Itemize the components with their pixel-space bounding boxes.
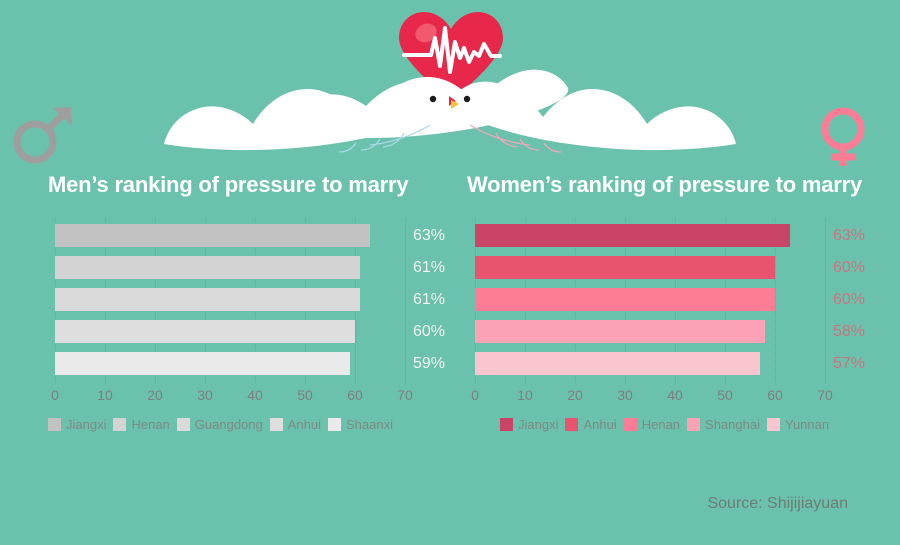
bar-jiangxi[interactable] — [55, 224, 370, 247]
legend-item-henan[interactable]: Henan — [624, 417, 680, 432]
x-tick-label-20: 20 — [567, 387, 583, 403]
bar-value-label: 59% — [413, 355, 445, 373]
bar-value-label: 60% — [833, 291, 865, 309]
x-tick-label-30: 30 — [197, 387, 213, 403]
page-title-women: Women’s ranking of pressure to marry — [455, 170, 885, 200]
bar-shaanxi[interactable] — [55, 352, 350, 375]
bar-value-label: 63% — [413, 227, 445, 245]
bar-anhui[interactable] — [475, 256, 775, 279]
legend-label: Yunnan — [785, 417, 829, 432]
legend-women: JiangxiAnhuiHenanShanghaiYunnan — [455, 417, 885, 432]
legend-swatch-icon — [48, 418, 61, 431]
love-birds-illustration — [0, 0, 900, 170]
bar-row[interactable]: 60% — [55, 320, 405, 343]
bar-row[interactable]: 61% — [55, 288, 405, 311]
x-axis-women: 010203040506070 — [475, 387, 825, 409]
x-tick-label-40: 40 — [247, 387, 263, 403]
legend-label: Jiangxi — [518, 417, 558, 432]
x-tick-label-40: 40 — [667, 387, 683, 403]
bar-shanghai[interactable] — [475, 320, 765, 343]
legend-swatch-icon — [565, 418, 578, 431]
x-axis-men: 010203040506070 — [55, 387, 405, 409]
x-tick-label-70: 70 — [817, 387, 833, 403]
x-tick-label-10: 10 — [517, 387, 533, 403]
bar-row[interactable]: 59% — [55, 352, 405, 375]
x-tick-label-0: 0 — [471, 387, 479, 403]
x-tick-label-0: 0 — [51, 387, 59, 403]
legend-label: Anhui — [583, 417, 616, 432]
plot-area-men: 63%61%61%60%59% — [55, 218, 405, 383]
legend-label: Henan — [642, 417, 680, 432]
legend-swatch-icon — [500, 418, 513, 431]
bar-value-label: 61% — [413, 259, 445, 277]
legend-item-anhui[interactable]: Anhui — [565, 417, 616, 432]
dove-left-icon — [164, 70, 568, 152]
bar-jiangxi[interactable] — [475, 224, 790, 247]
bar-value-label: 60% — [413, 323, 445, 341]
bar-value-label: 60% — [833, 259, 865, 277]
legend-item-guangdong[interactable]: Guangdong — [177, 417, 263, 432]
chart-panel-men: Men’s ranking of pressure to marry 63%61… — [30, 170, 460, 470]
legend-men: JiangxiHenanGuangdongAnhuiShaanxi — [30, 417, 460, 432]
bar-row[interactable]: 63% — [475, 224, 825, 247]
bar-value-label: 58% — [833, 323, 865, 341]
legend-swatch-icon — [270, 418, 283, 431]
gridline-70 — [405, 218, 406, 383]
chart-panel-women: Women’s ranking of pressure to marry 63%… — [455, 170, 885, 470]
bar-yunnan[interactable] — [475, 352, 760, 375]
dove-beaks-icon — [449, 96, 459, 109]
legend-item-anhui[interactable]: Anhui — [270, 417, 321, 432]
legend-item-shanghai[interactable]: Shanghai — [687, 417, 760, 432]
legend-label: Henan — [131, 417, 169, 432]
x-tick-label-20: 20 — [147, 387, 163, 403]
bar-list-men: 63%61%61%60%59% — [55, 218, 405, 383]
bar-list-women: 63%60%60%58%57% — [475, 218, 825, 383]
bar-row[interactable]: 60% — [475, 288, 825, 311]
bar-row[interactable]: 63% — [55, 224, 405, 247]
plot-area-women: 63%60%60%58%57% — [475, 218, 825, 383]
legend-swatch-icon — [687, 418, 700, 431]
legend-label: Shanghai — [705, 417, 760, 432]
legend-swatch-icon — [767, 418, 780, 431]
page-title-men: Men’s ranking of pressure to marry — [30, 170, 460, 200]
x-tick-label-60: 60 — [767, 387, 783, 403]
legend-swatch-icon — [177, 418, 190, 431]
x-tick-label-50: 50 — [297, 387, 313, 403]
legend-label: Shaanxi — [346, 417, 393, 432]
x-tick-label-70: 70 — [397, 387, 413, 403]
legend-label: Guangdong — [195, 417, 263, 432]
bar-row[interactable]: 57% — [475, 352, 825, 375]
legend-item-yunnan[interactable]: Yunnan — [767, 417, 829, 432]
male-gender-symbol — [8, 104, 80, 166]
legend-item-henan[interactable]: Henan — [113, 417, 169, 432]
x-tick-label-60: 60 — [347, 387, 363, 403]
bar-value-label: 57% — [833, 355, 865, 373]
bar-henan[interactable] — [475, 288, 775, 311]
bar-value-label: 63% — [833, 227, 865, 245]
legend-label: Jiangxi — [66, 417, 106, 432]
bar-row[interactable]: 60% — [475, 256, 825, 279]
legend-swatch-icon — [113, 418, 126, 431]
legend-swatch-icon — [328, 418, 341, 431]
legend-item-shaanxi[interactable]: Shaanxi — [328, 417, 393, 432]
bar-henan[interactable] — [55, 256, 360, 279]
gridline-70 — [825, 218, 826, 383]
dove-right-icon — [452, 82, 736, 152]
female-gender-symbol — [812, 104, 874, 170]
bar-anhui[interactable] — [55, 320, 355, 343]
bar-guangdong[interactable] — [55, 288, 360, 311]
legend-swatch-icon — [624, 418, 637, 431]
x-tick-label-10: 10 — [97, 387, 113, 403]
source-note: Source: Shijijiayuan — [707, 495, 848, 513]
x-tick-label-50: 50 — [717, 387, 733, 403]
legend-label: Anhui — [288, 417, 321, 432]
x-tick-label-30: 30 — [617, 387, 633, 403]
legend-item-jiangxi[interactable]: Jiangxi — [500, 417, 558, 432]
heart-icon — [399, 12, 503, 100]
legend-item-jiangxi[interactable]: Jiangxi — [48, 417, 106, 432]
bar-row[interactable]: 61% — [55, 256, 405, 279]
bar-value-label: 61% — [413, 291, 445, 309]
bar-row[interactable]: 58% — [475, 320, 825, 343]
